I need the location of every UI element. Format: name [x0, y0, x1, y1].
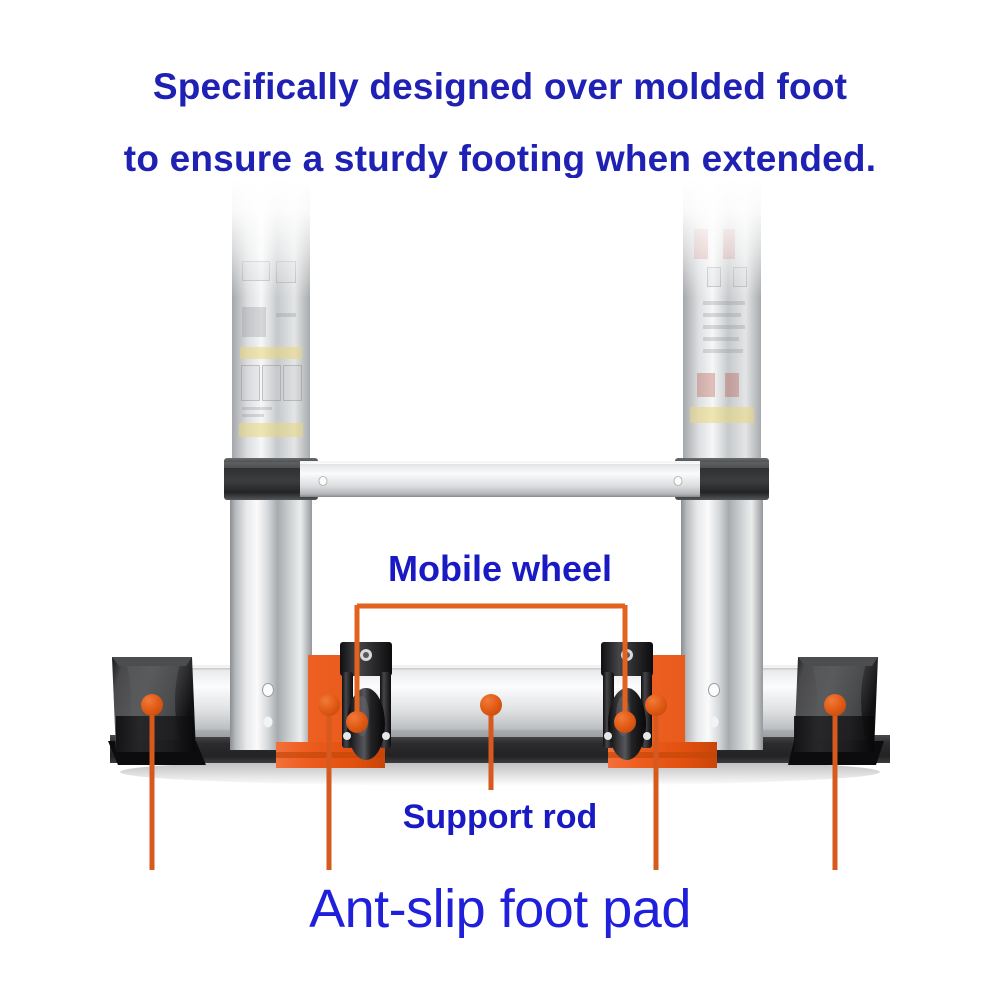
callout-label-mobile-wheel: Mobile wheel: [0, 548, 1000, 590]
left-caster-wheel[interactable]: [340, 642, 392, 760]
callout-label-anti-slip-foot-pad: Ant-slip foot pad: [0, 878, 1000, 940]
leader-dot-icon: [141, 694, 163, 716]
callout-label-support-rod: Support rod: [0, 798, 1000, 837]
base-rail: [110, 665, 890, 763]
upper-cross-bar: [300, 461, 700, 497]
leader-dot-icon: [346, 711, 368, 733]
leader-dot-icon: [480, 694, 502, 716]
leader-dot-icon: [645, 694, 667, 716]
leader-dot-icon: [318, 694, 340, 716]
leader-dot-icon: [824, 694, 846, 716]
leader-dot-icon: [614, 711, 636, 733]
ladder-illustration: [0, 0, 1000, 1000]
product-feature-diagram: Specifically designed over molded foot t…: [0, 0, 1000, 1000]
